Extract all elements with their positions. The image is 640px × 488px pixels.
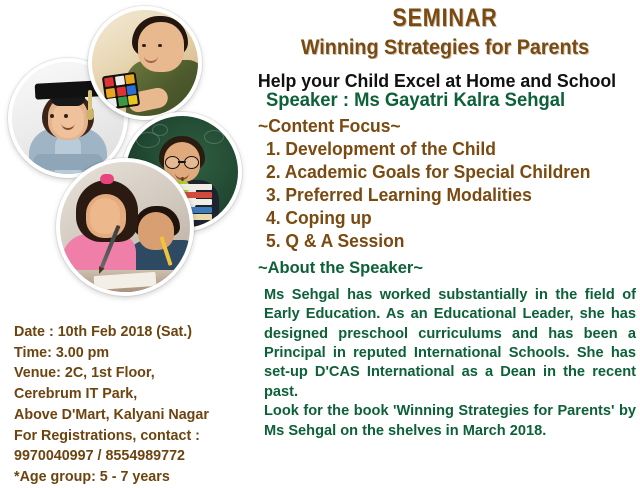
children-writing-photo [56, 158, 194, 296]
hair-bow-icon [100, 174, 114, 184]
graduate-eye-left [50, 114, 54, 118]
event-details: Date : 10th Feb 2018 (Sat.) Time: 3.00 p… [14, 322, 254, 488]
list-item: 1. Development of the Child [266, 139, 629, 161]
content-focus-heading: ~Content Focus~ [258, 116, 629, 137]
list-item: 2. Academic Goals for Special Children [266, 162, 629, 184]
bio-paragraph: Ms Sehgal has worked substantially in th… [264, 286, 636, 402]
detail-venue-line1: Venue: 2C, 1st Floor, [14, 363, 249, 384]
list-item: 3. Preferred Learning Modalities [266, 185, 629, 207]
rubik-scene [92, 10, 198, 116]
chalk-doodle-c [204, 130, 224, 144]
content-focus-list: 1. Development of the Child 2. Academic … [250, 139, 640, 253]
detail-time: Time: 3.00 pm [14, 343, 249, 364]
rubik-boy-eye-right [158, 44, 162, 47]
writing-boy-head [138, 212, 174, 250]
rubiks-cube-icon [102, 72, 140, 110]
about-speaker-heading: ~About the Speaker~ [258, 258, 629, 278]
speaker-line: Speaker : Ms Gayatri Kalra Sehgal [266, 90, 629, 112]
list-item: 5. Q & A Session [266, 231, 629, 253]
seminar-poster: SEMINAR Winning Strategies for Parents H… [0, 0, 640, 480]
boy-rubik-cube-photo [88, 6, 202, 120]
content-column: SEMINAR Winning Strategies for Parents H… [250, 0, 640, 441]
graduate-face [52, 102, 84, 138]
detail-venue-line3: Above D'Mart, Kalyani Nagar [14, 405, 249, 426]
bio-paragraph-book: Look for the book 'Winning Strategies fo… [264, 402, 636, 441]
about-speaker-body: Ms Sehgal has worked substantially in th… [264, 286, 636, 441]
graduate-eye-right [64, 114, 68, 118]
rubik-boy-eye-left [142, 44, 146, 47]
poster-title: SEMINAR [277, 4, 612, 33]
list-item: 4. Coping up [266, 208, 629, 230]
detail-phone-numbers: 9970040997 / 8554989772 [14, 446, 249, 467]
poster-subtitle: Winning Strategies for Parents [262, 36, 629, 60]
rubik-boy-head [138, 22, 184, 72]
detail-venue-line2: Cerebrum IT Park, [14, 384, 249, 405]
poster-tagline: Help your Child Excel at Home and School [242, 70, 632, 92]
chalk-doodle-b [152, 124, 168, 136]
detail-registration: For Registrations, contact : [14, 426, 249, 447]
detail-age-group: *Age group: 5 - 7 years [14, 467, 249, 488]
classroom-scene [60, 162, 190, 292]
photo-collage [0, 0, 255, 320]
detail-date: Date : 10th Feb 2018 (Sat.) [14, 322, 249, 343]
